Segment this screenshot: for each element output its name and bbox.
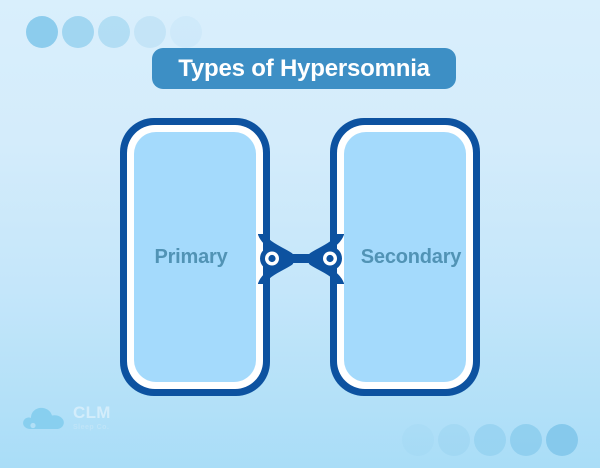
decoration-dots-top-left bbox=[26, 16, 202, 48]
diagram-node-secondary[interactable]: Secondary bbox=[330, 118, 480, 396]
brand-logo: CLM Sleep Co. bbox=[22, 404, 111, 431]
decoration-dot bbox=[438, 424, 470, 456]
decoration-dot bbox=[134, 16, 166, 48]
decoration-dot bbox=[98, 16, 130, 48]
cloud-icon bbox=[22, 405, 66, 431]
page-title-badge: Types of Hypersomnia bbox=[152, 48, 456, 89]
node-inner-border: Primary bbox=[127, 125, 263, 389]
decoration-dots-bottom-right bbox=[402, 424, 578, 456]
node-label-secondary: Secondary bbox=[361, 246, 461, 269]
page-title: Types of Hypersomnia bbox=[178, 55, 430, 83]
decoration-dot bbox=[402, 424, 434, 456]
logo-name: CLM bbox=[73, 404, 111, 421]
node-label-primary: Primary bbox=[154, 246, 227, 269]
decoration-dot bbox=[474, 424, 506, 456]
decoration-dot bbox=[26, 16, 58, 48]
diagram-node-primary[interactable]: Primary bbox=[120, 118, 270, 396]
node-inner-border: Secondary bbox=[337, 125, 473, 389]
node-connector bbox=[258, 234, 344, 284]
decoration-dot bbox=[62, 16, 94, 48]
decoration-dot bbox=[510, 424, 542, 456]
decoration-dot bbox=[546, 424, 578, 456]
logo-tagline: Sleep Co. bbox=[73, 424, 111, 431]
node-body: Primary bbox=[134, 132, 256, 382]
decoration-dot bbox=[170, 16, 202, 48]
logo-wordmark: CLM Sleep Co. bbox=[73, 404, 111, 431]
node-body: Secondary bbox=[344, 132, 466, 382]
